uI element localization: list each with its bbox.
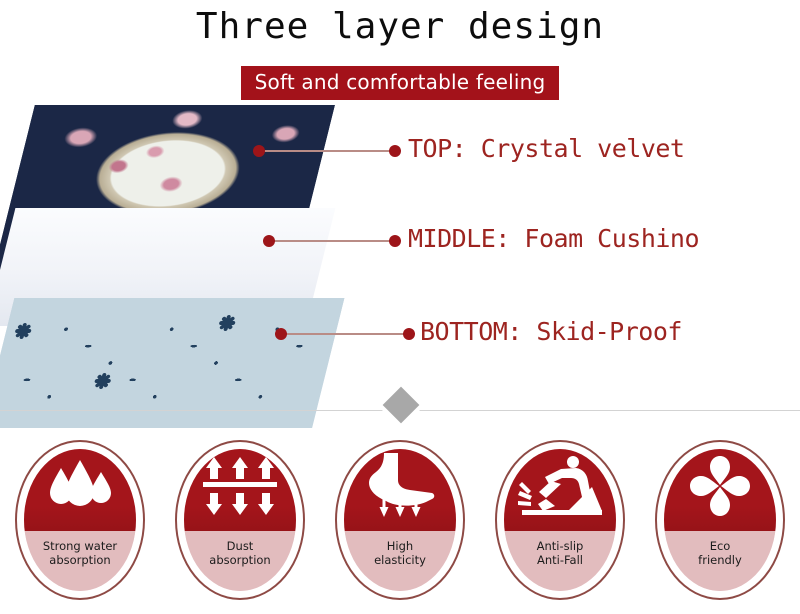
leader-dot-source <box>263 235 275 247</box>
rosette-motif <box>75 364 117 398</box>
leader-dot-target <box>403 328 415 340</box>
falling-person-icon <box>495 440 625 533</box>
foot-arrows-icon <box>335 440 465 533</box>
clover-flower-icon <box>655 440 785 533</box>
leader-dot-target <box>389 145 401 157</box>
leader-dot-source <box>275 328 287 340</box>
infographic-page: Three layer design Soft and comfortable … <box>0 0 800 614</box>
badge-caption-line2: absorption <box>49 553 110 567</box>
feature-badge-strong-water-absorption: Strong water absorption <box>15 440 145 600</box>
badge-caption-line1: Dust <box>227 539 254 553</box>
badge-caption-line2: elasticity <box>374 553 426 567</box>
leader-line <box>280 333 410 335</box>
badge-caption: Eco friendly <box>655 533 785 600</box>
feature-badge-anti-slip-anti-fall: Anti-slip Anti-Fall <box>495 440 625 600</box>
callout-line-top <box>258 150 396 152</box>
leader-dot-source <box>253 145 265 157</box>
leader-dot-target <box>389 235 401 247</box>
label-middle-layer: MIDDLE: Foam Cushino <box>408 224 699 253</box>
badge-caption: Dust absorption <box>175 533 305 600</box>
feature-badge-dust-absorption: Dust absorption <box>175 440 305 600</box>
layer-bottom-skidproof <box>0 298 344 428</box>
badge-caption-line2: Anti-Fall <box>537 553 583 567</box>
up-down-arrows-icon <box>175 440 305 533</box>
label-bottom-layer: BOTTOM: Skid-Proof <box>420 317 682 346</box>
badge-caption-line1: Anti-slip <box>537 539 584 553</box>
layer-stack-illustration <box>0 100 440 400</box>
badge-caption-line2: absorption <box>209 553 270 567</box>
feature-badge-eco-friendly: Eco friendly <box>655 440 785 600</box>
badge-caption-line1: Eco <box>710 539 731 553</box>
page-title: Three layer design <box>0 6 800 47</box>
water-drops-icon <box>15 440 145 533</box>
badge-caption-line2: friendly <box>698 553 742 567</box>
badge-caption-line1: Strong water <box>43 539 117 553</box>
leader-line <box>268 240 396 242</box>
feature-badge-high-elasticity: High elasticity <box>335 440 465 600</box>
label-top-layer: TOP: Crystal velvet <box>408 134 684 163</box>
leader-line <box>258 150 396 152</box>
callout-line-middle <box>268 240 396 242</box>
badge-caption: Anti-slip Anti-Fall <box>495 533 625 600</box>
feature-badge-row: Strong water absorption <box>0 440 800 614</box>
subtitle-banner: Soft and comfortable feeling <box>241 66 560 100</box>
callout-line-bottom <box>280 333 410 335</box>
rosette-motif <box>200 306 242 340</box>
subtitle-banner-wrap: Soft and comfortable feeling <box>0 66 800 100</box>
badge-caption: Strong water absorption <box>15 533 145 600</box>
badge-caption-line1: High <box>387 539 413 553</box>
badge-caption: High elasticity <box>335 533 465 600</box>
